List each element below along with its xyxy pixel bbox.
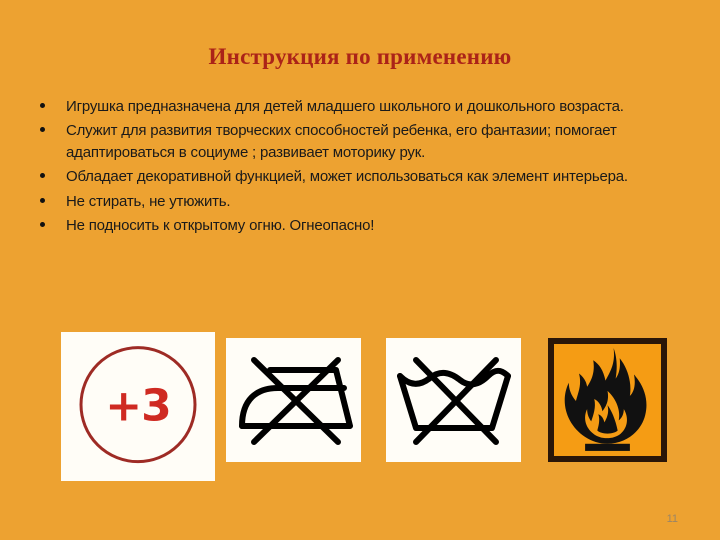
list-item: Игрушка предназначена для детей младшего… <box>30 96 690 117</box>
bullet-dot-icon <box>40 222 45 227</box>
do-not-iron-icon <box>226 338 361 462</box>
symbol-row: +3 <box>0 0 720 540</box>
list-item: Не стирать, не утюжить. <box>30 191 690 212</box>
do-not-wash-glyph <box>386 338 521 462</box>
list-item-text: Обладает декоративной функцией, может ис… <box>66 168 628 185</box>
list-item-text: Не подносить к открытому огню. Огнеопасн… <box>66 217 374 234</box>
age-rating-3-plus-icon: +3 <box>61 332 215 481</box>
flammable-hazard-icon <box>548 338 667 462</box>
list-item: Служит для развития творческих способнос… <box>30 120 690 163</box>
bullet-dot-icon <box>40 173 45 178</box>
flame-glyph <box>554 344 661 456</box>
list-item: Обладает декоративной функцией, может ис… <box>30 166 690 187</box>
do-not-wash-icon <box>386 338 521 462</box>
list-item-text: Не стирать, не утюжить. <box>66 193 230 210</box>
bullet-dot-icon <box>40 127 45 132</box>
age-rating-label: +3 <box>105 380 170 431</box>
page-title: Инструкция по применению <box>0 44 720 70</box>
list-item-text: Служит для развития творческих способнос… <box>66 122 617 160</box>
page-number: 11 <box>667 513 678 525</box>
bullet-dot-icon <box>40 103 45 108</box>
list-item: Не подносить к открытому огню. Огнеопасн… <box>30 215 690 236</box>
list-item-text: Игрушка предназначена для детей младшего… <box>66 98 624 115</box>
slide-root: Инструкция по применению Игрушка предназ… <box>0 0 720 540</box>
bullet-dot-icon <box>40 198 45 203</box>
instruction-bullet-list: Игрушка предназначена для детей младшего… <box>30 96 690 240</box>
do-not-iron-glyph <box>226 338 361 462</box>
